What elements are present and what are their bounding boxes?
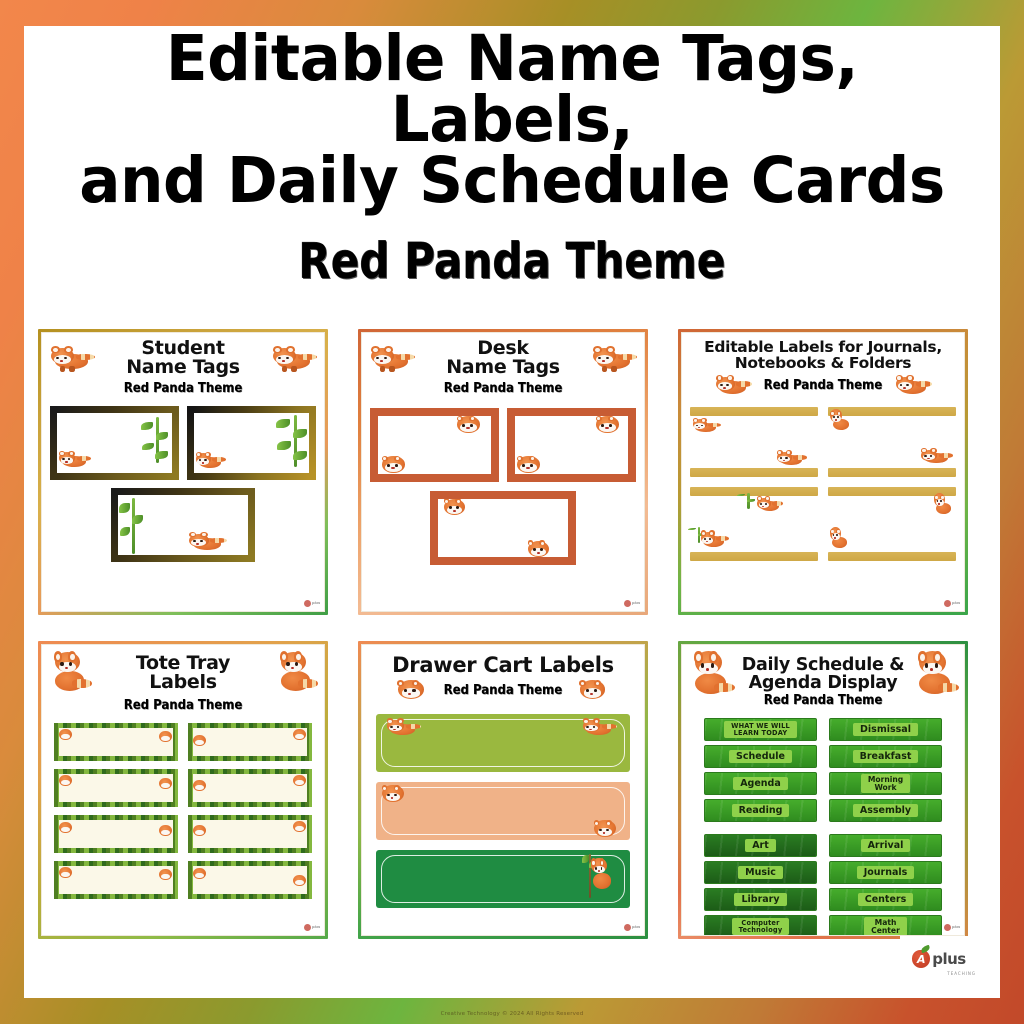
name-tag[interactable] [111,488,255,562]
red-panda-icon [292,728,308,742]
desk-tag-row [370,491,636,565]
preview-card-daily-schedule[interactable]: Daily Schedule & Agenda Display Red Pand… [678,641,968,939]
red-panda-icon [692,417,720,435]
drawer-cart-label[interactable] [376,850,630,908]
preview-grid: Student Name Tags Red Panda Theme [38,329,986,939]
red-panda-icon [515,454,545,476]
schedule-card-label: Computer Technology [732,918,790,935]
schedule-card-label: Journals [857,866,915,880]
schedule-card[interactable]: Computer Technology [704,915,817,936]
journal-label[interactable] [690,525,818,563]
red-panda-icon [715,373,751,399]
apple-icon: A [912,950,930,968]
schedule-card[interactable]: Math Center [829,915,942,936]
card-theme-label: Red Panda Theme [383,381,622,396]
card-inner: Tote Tray Labels Red Panda Theme [41,644,325,936]
bamboo-icon [124,498,142,554]
card-title: Drawer Cart Labels [370,655,636,676]
tote-tray-label[interactable] [188,723,312,761]
brand-tagline: TEACHING [947,971,976,976]
schedule-card[interactable]: Breakfast [829,745,942,768]
schedule-card[interactable]: Assembly [829,799,942,822]
card-theme-label: Red Panda Theme [444,683,563,698]
card-theme-label: Red Panda Theme [63,698,302,713]
red-panda-icon [58,821,74,835]
red-panda-icon [830,409,852,433]
tote-tray-label[interactable] [188,815,312,853]
name-tag[interactable] [50,406,179,480]
red-panda-icon [158,868,174,882]
watermark: plus [624,922,640,932]
card-title: Student Name Tags [96,339,270,378]
red-panda-icon [158,730,174,744]
red-panda-icon [158,777,174,791]
red-panda-icon [592,343,636,373]
card-theme-label: Red Panda Theme [703,693,942,708]
name-tag-row [50,406,316,480]
red-panda-icon [757,495,783,515]
red-panda-icon [192,779,208,793]
copyright-text: Creative Technology © 2024 All Rights Re… [0,1011,1024,1017]
card-inner: Daily Schedule & Agenda Display Red Pand… [681,644,965,936]
schedule-card[interactable]: Centers [829,888,942,911]
tote-tray-label[interactable] [54,861,178,899]
watermark: plus [304,922,320,932]
watermark: plus [944,598,960,608]
schedule-card[interactable]: Dismissal [829,718,942,741]
tote-tray-label[interactable] [188,769,312,807]
schedule-card[interactable]: Morning Work [829,772,942,795]
card-theme-row: Red Panda Theme [370,678,636,702]
brand-logo: A plus TEACHING [900,936,978,982]
journal-label[interactable] [828,525,956,563]
schedule-card[interactable]: WHAT WE WILL LEARN TODAY [704,718,817,741]
page-title: Editable Name Tags, Labels, and Daily Sc… [39,28,986,211]
red-panda-icon [292,820,308,834]
schedule-card-label: Reading [732,804,790,818]
bamboo-icon [741,493,755,509]
red-panda-icon [192,867,208,881]
card-theme-label: Red Panda Theme [764,378,883,393]
bamboo-icon [146,417,168,463]
schedule-card[interactable]: Music [704,861,817,884]
schedule-card-label: Schedule [729,750,792,764]
watermark: plus [624,598,640,608]
tote-tray-label[interactable] [54,769,178,807]
preview-card-desk-name-tags[interactable]: Desk Name Tags Red Panda Theme [358,329,648,615]
red-panda-icon [380,783,408,805]
bamboo-icon [283,415,307,467]
drawer-cart-label[interactable] [376,714,630,772]
schedule-card[interactable]: Journals [829,861,942,884]
red-panda-icon [58,774,74,788]
group-right-bottom: Arrival Journals Centers [829,834,942,936]
red-panda-icon [690,651,732,699]
red-panda-icon [192,734,208,748]
card-title: Editable Labels for Journals, Notebooks … [690,340,956,372]
preview-card-student-name-tags[interactable]: Student Name Tags Red Panda Theme [38,329,328,615]
brand-word: plus [932,950,966,968]
schedule-card-label: Morning Work [861,774,910,793]
red-panda-icon [920,447,952,467]
red-panda-icon [395,678,429,702]
red-panda-icon [192,824,208,838]
journal-label[interactable] [690,405,818,443]
card-title: Desk Name Tags [416,339,590,378]
red-panda-icon [58,728,74,742]
schedule-card-label: Dismissal [853,723,918,737]
red-panda-icon [895,373,931,399]
preview-card-drawer-cart-labels[interactable]: Drawer Cart Labels Red Panda Theme [358,641,648,939]
card-inner: Drawer Cart Labels Red Panda Theme [361,644,645,936]
tote-tray-label[interactable] [54,815,178,853]
schedule-card-label: Agenda [733,777,788,791]
red-panda-icon [594,414,624,436]
schedule-card[interactable]: Art [704,834,817,857]
red-panda-icon [455,414,485,436]
red-panda-icon [158,824,174,838]
red-panda-icon [830,527,850,551]
red-panda-icon [50,651,90,695]
preview-card-tote-tray-labels[interactable]: Tote Tray Labels Red Panda Theme [38,641,328,939]
drawer-bar-list [370,714,636,908]
brand-letter: A [912,950,930,968]
red-panda-icon [58,866,74,880]
schedule-card-label: Library [734,893,786,907]
red-panda-icon [276,651,316,695]
red-panda-icon [292,774,308,788]
poster-page: Editable Name Tags, Labels, and Daily Sc… [24,26,1000,998]
schedule-card-label: Music [738,866,783,880]
name-tag-row [50,488,316,562]
journal-label[interactable] [828,445,956,483]
card-inner: Editable Labels for Journals, Notebooks … [681,332,965,612]
label-bar-grid [690,405,956,563]
red-panda-icon [370,343,414,373]
schedule-card[interactable]: Schedule [704,745,817,768]
schedule-card-label: Breakfast [853,750,919,764]
journal-label[interactable] [828,485,956,523]
card-theme-row: Red Panda Theme [690,373,956,399]
schedule-card[interactable]: Agenda [704,772,817,795]
card-title: Tote Tray Labels [92,654,274,693]
red-panda-icon [292,874,308,888]
red-panda-icon [590,858,614,892]
drawer-cart-label[interactable] [376,782,630,840]
tote-tray-label[interactable] [188,861,312,899]
desk-name-tag[interactable] [370,408,499,482]
schedule-card-label: Math Center [864,917,907,936]
card-theme-label: Red Panda Theme [63,381,302,396]
schedule-card-label: Centers [858,893,914,907]
schedule-card[interactable]: Arrival [829,834,942,857]
journal-label[interactable] [690,485,818,523]
red-panda-icon [577,678,611,702]
card-header: Desk Name Tags [370,339,636,378]
journal-label[interactable] [690,445,818,483]
desk-name-tag[interactable] [430,491,576,565]
red-panda-icon [934,493,954,517]
preview-card-journal-labels[interactable]: Editable Labels for Journals, Notebooks … [678,329,968,615]
page-subtitle: Red Panda Theme [92,237,931,286]
red-panda-icon [195,450,225,472]
schedule-card-label: Assembly [853,804,918,818]
schedule-card[interactable]: Library [704,888,817,911]
group-right-top: Dismissal Breakfast Morning Work [829,718,942,822]
red-panda-icon [386,716,420,738]
tote-tray-label[interactable] [54,723,178,761]
card-inner: Desk Name Tags Red Panda Theme [361,332,645,612]
red-panda-icon [380,454,410,476]
name-tag[interactable] [187,406,316,480]
schedule-card-label: Art [745,839,776,853]
schedule-card-label: Arrival [861,839,911,853]
red-panda-icon [700,529,728,551]
card-title: Daily Schedule & Agenda Display [734,657,912,693]
red-panda-icon [914,651,956,699]
poster-canvas: Editable Name Tags, Labels, and Daily Sc… [0,0,1024,1024]
card-header: Student Name Tags [50,339,316,378]
schedule-card[interactable]: Reading [704,799,817,822]
tote-label-grid [50,723,316,899]
watermark: plus [304,598,320,608]
red-panda-icon [188,530,226,554]
schedule-card-grid: WHAT WE WILL LEARN TODAY Schedule Agenda [690,718,956,936]
red-panda-icon [776,449,806,469]
title-block: Editable Name Tags, Labels, and Daily Sc… [24,28,1000,286]
schedule-card-label: WHAT WE WILL LEARN TODAY [724,721,797,738]
watermark: plus [944,922,960,932]
card-inner: Student Name Tags Red Panda Theme [41,332,325,612]
journal-label[interactable] [828,405,956,443]
red-panda-icon [58,449,90,471]
group-left-bottom: Art Music Library [704,834,817,936]
red-panda-icon [272,343,316,373]
desk-name-tag[interactable] [507,408,636,482]
card-header: Daily Schedule & Agenda Display [690,651,956,699]
desk-tag-row [370,408,636,482]
group-left-top: WHAT WE WILL LEARN TODAY Schedule Agenda [704,718,817,822]
red-panda-icon [50,343,94,373]
red-panda-icon [592,818,620,840]
red-panda-icon [526,539,554,560]
red-panda-icon [442,497,470,518]
red-panda-icon [582,716,616,738]
card-header: Tote Tray Labels [50,651,316,695]
